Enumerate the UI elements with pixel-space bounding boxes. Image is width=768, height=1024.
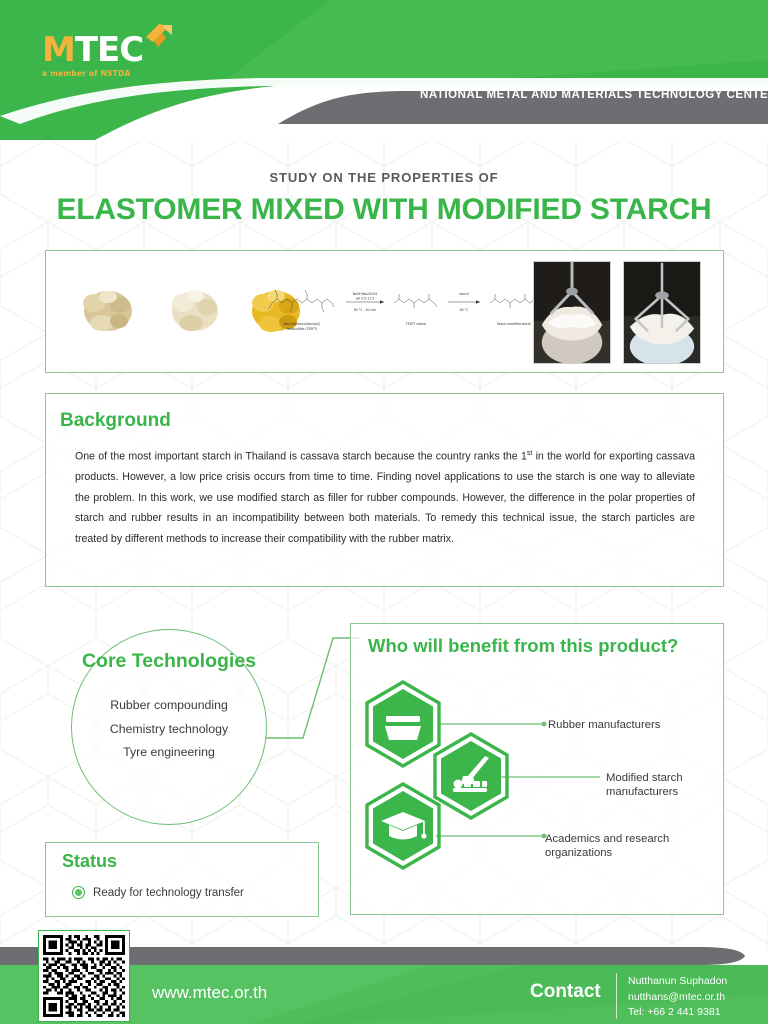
benefit-hexagon-icons	[363, 680, 543, 870]
footer-divider	[616, 973, 617, 1019]
hex-academics-research	[367, 784, 439, 868]
page-title: ELASTOMER MIXED WITH MODIFIED STARCH	[0, 193, 768, 227]
qr-code[interactable]	[38, 930, 130, 1022]
eyebrow-title: STUDY ON THE PROPERTIES OF	[0, 170, 768, 185]
svg-text:pH 9.5-11.5: pH 9.5-11.5	[356, 297, 374, 301]
status-heading: Status	[62, 851, 117, 872]
core-item-tyre-engineering: Tyre engineering	[66, 741, 272, 765]
logo-tagline: a member of NSTDA	[42, 69, 143, 78]
reaction-scheme-diagram: NaOH/Na2S2O4 pH 9.5-11.5 60 °C , 30 min …	[268, 281, 568, 343]
mixer-photo-1	[533, 261, 611, 364]
logo-arrow-icon	[140, 21, 176, 61]
hex-rubber-manufacturers	[367, 682, 439, 766]
footer-contact-label: Contact	[530, 981, 601, 1003]
qr-code-image	[43, 935, 125, 1017]
starch-sample-cream	[165, 283, 225, 335]
logo-letters-tec: TEC	[75, 30, 143, 70]
svg-text:Bis(triethoxysilylpropyl): Bis(triethoxysilylpropyl)	[284, 322, 321, 326]
contact-email[interactable]: nutthans@mtec.or.th	[628, 990, 727, 1006]
poster-page: MTEC a member of NSTDA NATIONAL METAL AN…	[0, 0, 768, 1024]
svg-text:starch: starch	[459, 292, 469, 296]
svg-text:TESPT silanol: TESPT silanol	[405, 322, 427, 326]
background-text-part1: One of the most important starch in Thai…	[75, 451, 527, 463]
status-item: Ready for technology transfer	[72, 886, 244, 899]
hex-modified-starch-manufacturers	[435, 734, 507, 818]
core-item-chemistry-technology: Chemistry technology	[66, 718, 272, 742]
status-radio-icon	[72, 886, 85, 899]
benefit-label-modified-starch-manufacturers: Modified starch manufacturers	[606, 771, 683, 799]
background-paragraph: One of the most important starch in Thai…	[75, 444, 695, 550]
svg-text:NaOH/Na2S2O4: NaOH/Na2S2O4	[353, 292, 378, 296]
svg-text:Silane modified starch: Silane modified starch	[497, 322, 532, 326]
footer-website-url[interactable]: www.mtec.or.th	[152, 983, 267, 1003]
starch-sample-tan	[78, 283, 138, 335]
mtec-logo: MTEC a member of NSTDA	[42, 33, 143, 78]
core-technologies-list: Rubber compounding Chemistry technology …	[66, 694, 272, 765]
footer-contact-details: Nutthanun Suphadon nutthans@mtec.or.th T…	[628, 974, 727, 1021]
core-item-rubber-compounding: Rubber compounding	[66, 694, 272, 718]
contact-phone: Tel: +66 2 441 9381	[628, 1005, 727, 1021]
contact-person: Nutthanun Suphadon	[628, 974, 727, 990]
svg-text:tetrasulfide (TESPT): tetrasulfide (TESPT)	[287, 327, 318, 331]
benefit-heading: Who will benefit from this product?	[368, 635, 678, 657]
status-value: Ready for technology transfer	[93, 887, 244, 899]
core-technologies-heading: Core Technologies	[71, 650, 267, 673]
benefit-label-academics-research: Academics and research organizations	[545, 832, 669, 860]
svg-text:60 °C , 30 min: 60 °C , 30 min	[354, 308, 376, 312]
logo-letter-m: M	[42, 30, 75, 70]
svg-text:80 °C: 80 °C	[460, 308, 469, 312]
background-text-part2: in the world for exporting cassava produ…	[75, 451, 695, 545]
background-heading: Background	[60, 410, 171, 432]
benefit-label-rubber-manufacturers: Rubber manufacturers	[548, 718, 660, 732]
mixer-photo-2	[623, 261, 701, 364]
banner-title: NATIONAL METAL AND MATERIALS TECHNOLOGY …	[420, 89, 768, 101]
figure-strip: NaOH/Na2S2O4 pH 9.5-11.5 60 °C , 30 min …	[45, 250, 724, 373]
logo-wordmark: MTEC	[42, 33, 143, 67]
